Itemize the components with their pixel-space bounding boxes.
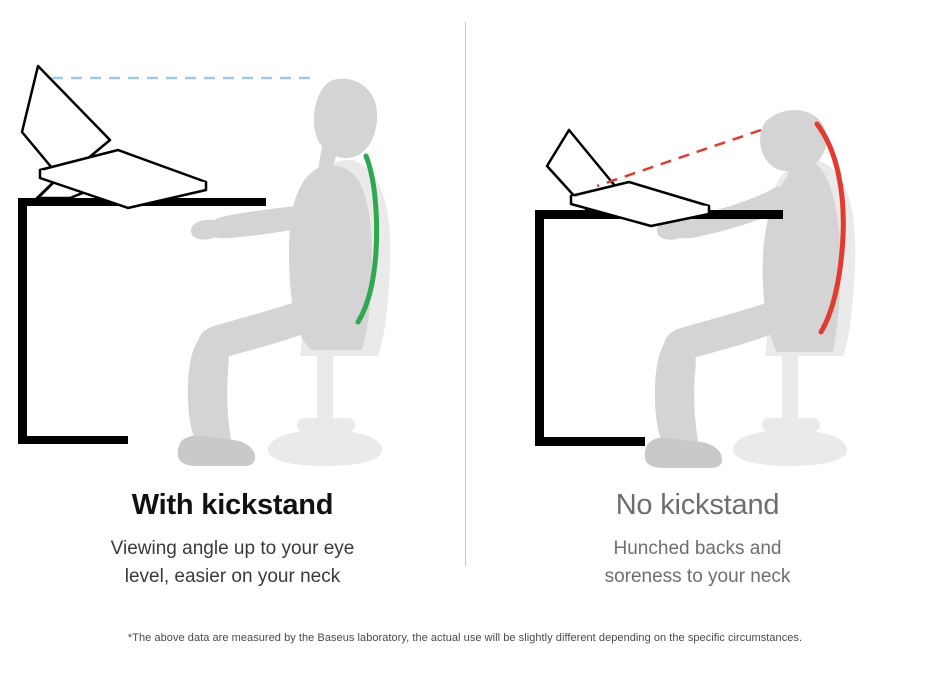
panel-with-kickstand: With kickstand Viewing angle up to your …: [0, 0, 465, 620]
panel-title: No kickstand: [465, 487, 930, 523]
captions-with-kickstand: With kickstand Viewing angle up to your …: [0, 487, 465, 591]
panel-subtitle-line2: level, easier on your neck: [125, 566, 340, 587]
person-shape-left: [178, 79, 377, 466]
footnote-text: *The above data are measured by the Base…: [0, 632, 930, 644]
panel-no-kickstand: No kickstand Hunched backs and soreness …: [465, 0, 930, 620]
person-shape-right: [645, 110, 841, 468]
panel-subtitle-line1: Hunched backs and: [614, 538, 782, 559]
panel-subtitle-line1: Viewing angle up to your eye: [111, 538, 355, 559]
comparison-diagram: With kickstand Viewing angle up to your …: [0, 0, 930, 699]
panel-title: With kickstand: [0, 487, 465, 523]
panel-subtitle: Viewing angle up to your eye level, easi…: [0, 535, 465, 591]
panel-subtitle: Hunched backs and soreness to your neck: [465, 535, 930, 591]
sight-line-right: [597, 130, 761, 186]
illustration-no-kickstand: [465, 20, 930, 480]
illustration-with-kickstand: [0, 20, 465, 480]
captions-no-kickstand: No kickstand Hunched backs and soreness …: [465, 487, 930, 591]
panel-subtitle-line2: soreness to your neck: [605, 566, 791, 587]
